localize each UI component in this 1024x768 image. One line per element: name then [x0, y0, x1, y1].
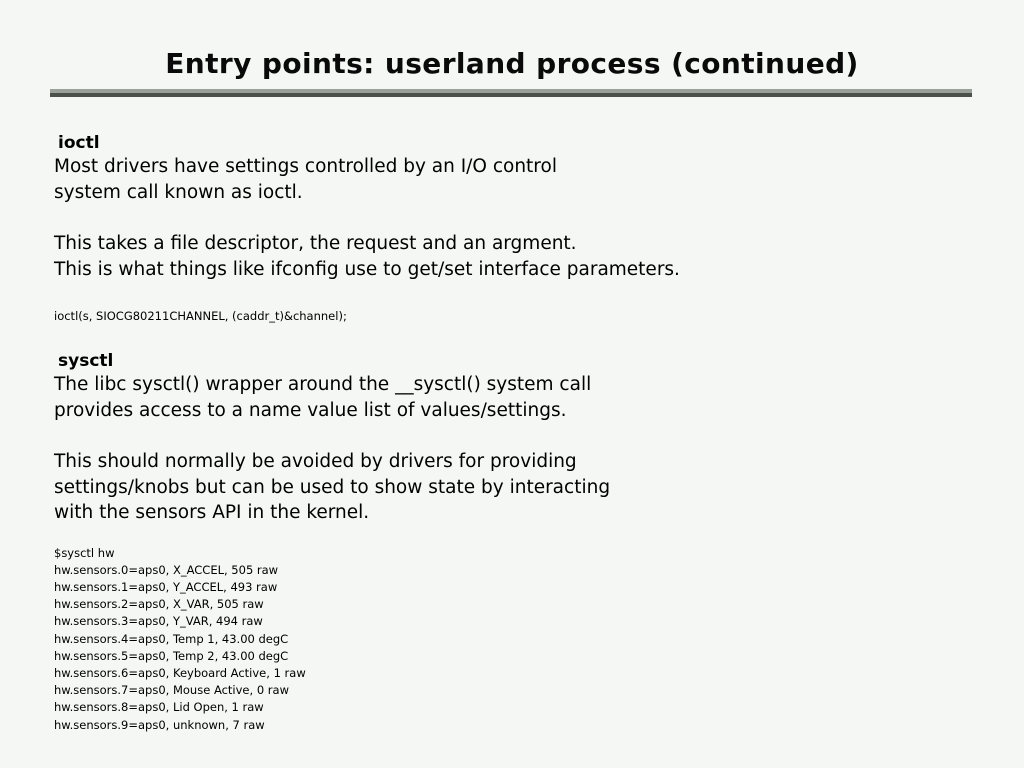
- section-heading-sysctl: sysctl: [58, 350, 984, 372]
- slide-title: Entry points: userland process (continue…: [0, 47, 1024, 80]
- text-line: provides access to a name value list of …: [54, 398, 984, 424]
- console-output-line: hw.sensors.7=aps0, Mouse Active, 0 raw: [54, 682, 984, 699]
- slide-body: ioctl Most drivers have settings control…: [54, 132, 984, 734]
- sysctl-paragraph-2: This should normally be avoided by drive…: [54, 449, 984, 526]
- section-heading-ioctl: ioctl: [58, 132, 984, 154]
- paragraph-spacer: [54, 526, 984, 545]
- text-line: Most drivers have settings controlled by…: [54, 154, 984, 180]
- paragraph-spacer: [54, 282, 984, 308]
- ioctl-paragraph-2: This takes a file descriptor, the reques…: [54, 231, 984, 282]
- text-line: This should normally be avoided by drive…: [54, 449, 984, 475]
- text-line: The libc sysctl() wrapper around the __s…: [54, 372, 984, 398]
- console-output-line: hw.sensors.9=aps0, unknown, 7 raw: [54, 717, 984, 734]
- presentation-slide: Entry points: userland process (continue…: [0, 0, 1024, 768]
- console-output-line: hw.sensors.2=aps0, X_VAR, 505 raw: [54, 596, 984, 613]
- text-line: settings/knobs but can be used to show s…: [54, 475, 984, 501]
- title-divider: [50, 89, 972, 97]
- ioctl-paragraph-1: Most drivers have settings controlled by…: [54, 154, 984, 205]
- console-output-line: hw.sensors.6=aps0, Keyboard Active, 1 ra…: [54, 665, 984, 682]
- text-line: This takes a file descriptor, the reques…: [54, 231, 984, 257]
- console-command: $sysctl hw: [54, 545, 984, 562]
- section-spacer: [54, 324, 984, 350]
- text-line: with the sensors API in the kernel.: [54, 500, 984, 526]
- text-line: system call known as ioctl.: [54, 180, 984, 206]
- console-output-line: hw.sensors.8=aps0, Lid Open, 1 raw: [54, 699, 984, 716]
- console-output-line: hw.sensors.3=aps0, Y_VAR, 494 raw: [54, 613, 984, 630]
- ioctl-code-example: ioctl(s, SIOCG80211CHANNEL, (caddr_t)&ch…: [54, 308, 984, 324]
- text-line: This is what things like ifconfig use to…: [54, 257, 984, 283]
- title-divider-shadow: [50, 93, 972, 97]
- console-output-line: hw.sensors.1=aps0, Y_ACCEL, 493 raw: [54, 579, 984, 596]
- console-output-line: hw.sensors.0=aps0, X_ACCEL, 505 raw: [54, 562, 984, 579]
- paragraph-spacer: [54, 205, 984, 231]
- sysctl-paragraph-1: The libc sysctl() wrapper around the __s…: [54, 372, 984, 423]
- sysctl-console-output: $sysctl hw hw.sensors.0=aps0, X_ACCEL, 5…: [54, 545, 984, 734]
- paragraph-spacer: [54, 423, 984, 449]
- console-output-line: hw.sensors.5=aps0, Temp 2, 43.00 degC: [54, 648, 984, 665]
- console-output-line: hw.sensors.4=aps0, Temp 1, 43.00 degC: [54, 631, 984, 648]
